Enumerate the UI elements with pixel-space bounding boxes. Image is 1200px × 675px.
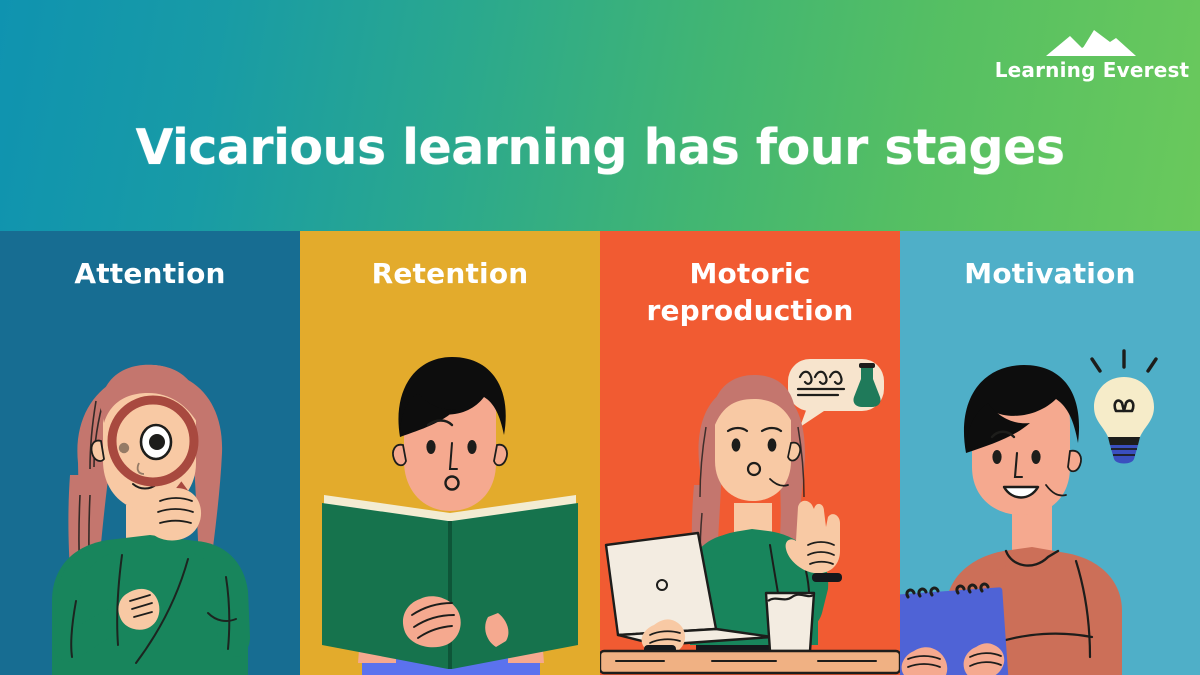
illustration-woman-at-laptop-with-speech-bubble [600,345,900,675]
stage-panel-motivation[interactable]: Motivation [900,231,1200,675]
stage-label-retention: Retention [300,255,600,292]
brand-name: Learning Everest [995,60,1190,80]
illustration-boy-reading-open-book [300,345,600,675]
stage-label-line-1: Motoric [689,257,810,290]
stage-panel-attention[interactable]: Attention [0,231,300,675]
stage-panel-list: Attention [0,231,1200,675]
poster-header: Learning Everest Vicarious learning has … [0,0,1200,231]
illustration-woman-with-magnifying-glass [0,345,300,675]
mountain-icon [1032,28,1152,58]
brand-logo: Learning Everest [1006,28,1178,90]
stage-label-motivation: Motivation [900,255,1200,292]
lightbulb-icon [1092,351,1156,464]
speech-bubble [788,359,884,427]
illustration-boy-with-notepad-and-lightbulb [900,345,1200,675]
stage-panel-retention[interactable]: Retention [300,231,600,675]
stage-panel-motoric-reproduction[interactable]: Motoric reproduction [600,231,900,675]
stage-label-line-2: reproduction [646,294,853,327]
stage-label-attention: Attention [0,255,300,292]
infographic-poster: Learning Everest Vicarious learning has … [0,0,1200,675]
page-title: Vicarious learning has four stages [0,122,1200,174]
stage-label-motoric-reproduction: Motoric reproduction [600,255,900,329]
